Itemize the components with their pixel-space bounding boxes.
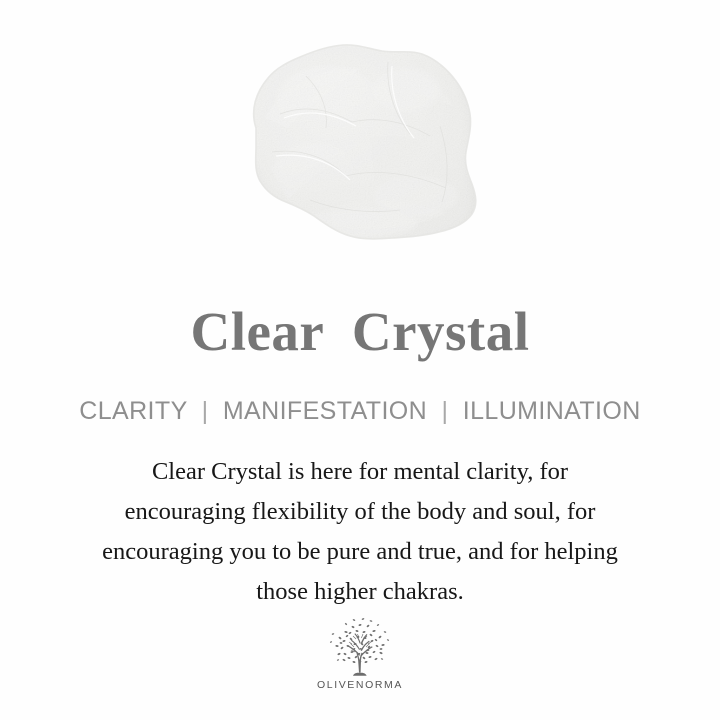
- olive-tree-icon: [324, 616, 396, 678]
- page-title: Clear Crystal: [0, 299, 720, 365]
- keyword-list: CLARITY | MANIFESTATION | ILLUMINATION: [0, 395, 720, 427]
- clear-quartz-crystal-photo: [210, 18, 510, 286]
- product-image-container: [0, 18, 720, 290]
- keyword-clarity: CLARITY: [79, 397, 187, 425]
- brand-logo: OLIVENORMA: [0, 616, 720, 691]
- keyword-separator: |: [434, 395, 455, 427]
- keyword-separator: |: [195, 395, 216, 427]
- product-description: Clear Crystal is here for mental clarity…: [38, 452, 682, 612]
- product-info-card: Clear Crystal CLARITY | MANIFESTATION | …: [0, 0, 720, 720]
- keyword-illumination: ILLUMINATION: [463, 397, 641, 425]
- keyword-manifestation: MANIFESTATION: [223, 397, 427, 425]
- description-line: those higher chakras.: [38, 572, 682, 612]
- description-line: encouraging flexibility of the body and …: [38, 492, 682, 532]
- brand-name: OLIVENORMA: [0, 679, 720, 691]
- description-line: encouraging you to be pure and true, and…: [38, 532, 682, 572]
- description-line: Clear Crystal is here for mental clarity…: [38, 452, 682, 492]
